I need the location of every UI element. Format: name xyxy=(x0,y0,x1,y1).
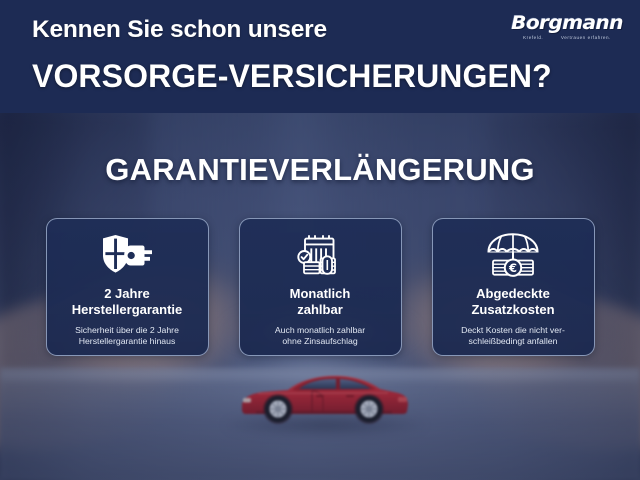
feature-card-title-line1: Abgedeckte xyxy=(471,286,554,302)
feature-card-subtitle: Sicherheit über die 2 Jahre Herstellerga… xyxy=(69,325,185,348)
logo-tagline-right: Vertrauen erfahren. xyxy=(561,35,611,40)
feature-card-sub-line1: Deckt Kosten die nicht ver- xyxy=(461,325,565,337)
feature-card-monthly-payment[interactable]: Monatlich zahlbar Auch monatlich zahlbar… xyxy=(239,218,402,356)
feature-card-sub-line2: Herstellergarantie hinaus xyxy=(75,336,179,348)
feature-card-sub-line1: Sicherheit über die 2 Jahre xyxy=(75,325,179,337)
feature-card-title: Abgedeckte Zusatzkosten xyxy=(471,286,554,318)
feature-card-title-line2: Zusatzkosten xyxy=(471,302,554,318)
feature-card-extra-costs[interactable]: € Abgedeckte Zusatzkosten Deckt Kosten d… xyxy=(432,218,595,356)
shield-car-key-icon xyxy=(100,230,154,280)
svg-text:€: € xyxy=(508,261,517,275)
page-title: GARANTIEVERLÄNGERUNG xyxy=(0,152,640,188)
feature-card-list: 2 Jahre Herstellergarantie Sicherheit üb… xyxy=(0,218,640,356)
logo-wordmark: Borgmann xyxy=(504,14,629,33)
feature-card-sub-line1: Auch monatlich zahlbar xyxy=(275,325,365,337)
feature-card-subtitle: Auch monatlich zahlbar ohne Zinsaufschla… xyxy=(269,325,371,348)
feature-card-sub-line2: schleißbedingt anfallen xyxy=(461,336,565,348)
logo-tagline: Krefeld. Vertrauen erfahren. xyxy=(508,36,626,41)
feature-card-subtitle: Deckt Kosten die nicht ver- schleißbedin… xyxy=(455,325,571,348)
umbrella-euro-coins-icon: € xyxy=(484,230,542,280)
feature-card-title: Monatlich zahlbar xyxy=(290,286,351,318)
promo-banner: Kennen Sie schon unsere VORSORGE-VERSICH… xyxy=(0,0,640,480)
feature-card-warranty[interactable]: 2 Jahre Herstellergarantie Sicherheit üb… xyxy=(46,218,209,356)
headline-primary: Kennen Sie schon unsere xyxy=(32,16,327,44)
headline-secondary: VORSORGE-VERSICHERUNGEN? xyxy=(32,58,552,95)
feature-card-title-line1: Monatlich xyxy=(290,286,351,302)
feature-card-title-line2: zahlbar xyxy=(290,302,351,318)
calendar-coins-icon xyxy=(295,230,345,280)
borgmann-logo[interactable]: Borgmann Krefeld. Vertrauen erfahren. xyxy=(508,14,626,41)
feature-card-title-line1: 2 Jahre xyxy=(72,286,183,302)
feature-card-title: 2 Jahre Herstellergarantie xyxy=(72,286,183,318)
logo-tagline-left: Krefeld. xyxy=(523,35,543,40)
feature-card-sub-line2: ohne Zinsaufschlag xyxy=(275,336,365,348)
feature-card-title-line2: Herstellergarantie xyxy=(72,302,183,318)
